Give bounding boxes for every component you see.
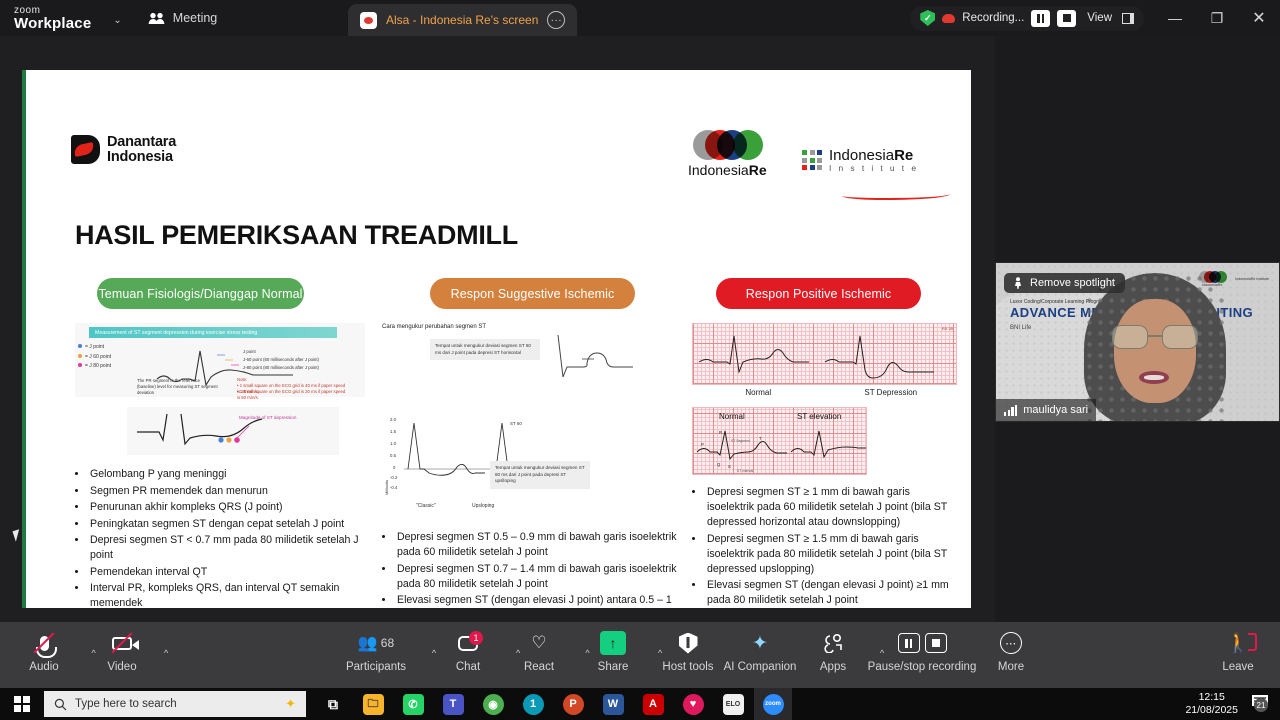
taskbar-app-elo[interactable]: ELO <box>714 688 752 720</box>
figure2-title: Cara mengukur perubahan segmen ST <box>382 323 486 332</box>
cloud-recording-icon <box>942 14 955 23</box>
ytick-6: -0.4 <box>390 485 397 491</box>
audio-label: Audio <box>29 661 58 673</box>
sparkle-icon: ✦ <box>752 630 768 656</box>
danantara-line-1: Danantara <box>107 135 176 150</box>
list-item: Gelombang P yang meninggi <box>88 467 365 482</box>
ecg-horizontal-svg <box>544 329 674 391</box>
recording-label-toolbar: Pause/stop recording <box>868 661 977 673</box>
zoom-workplace-logo: zoom Workplace <box>14 6 91 31</box>
ytick-0: 2.0 <box>390 417 396 423</box>
taskbar-app-task-view[interactable]: ⧉ <box>314 688 352 720</box>
list-item: Penurunan akhir kompleks QRS (J point) <box>88 500 365 515</box>
institute-line-1-bold: Re <box>894 147 913 164</box>
meeting-tab-label: Meeting <box>173 11 217 25</box>
figure-st-chart: Millivolts 2.0 1.5 1.0 0.5 0 -0.2 -0.4 S… <box>382 415 682 520</box>
list-item: Segmen PR memendek dan menurun <box>88 484 365 499</box>
annotation-magnitude: Magnitude of ST depression <box>239 415 296 422</box>
brand-line-1: zoom <box>14 6 91 16</box>
recording-controls-icon <box>898 630 947 656</box>
institute-grid-icon <box>802 150 822 170</box>
presentation-slide: Danantara Indonesia IndonesiaRe <box>22 70 971 608</box>
danantara-line-2: Indonesia <box>107 150 176 165</box>
recording-status-pill[interactable]: ✓ Recording... View <box>910 6 1144 31</box>
indonesiare-text: Indonesia <box>688 162 749 178</box>
clock-date: 21/08/2025 <box>1185 704 1238 717</box>
list-item: Depresi segmen ST < 0.7 mm pada 80 milid… <box>88 533 365 563</box>
ecg-strip-normal-vs-elevation: Normal ST elevation R P Q S T ST Segment… <box>692 407 867 475</box>
participants-label: Participants <box>346 661 406 673</box>
legend-j80-point: = J 80 point <box>85 363 111 369</box>
toolbar-participants-button[interactable]: 👥 68 ^ Participants <box>340 630 412 673</box>
danantara-logo-text: Danantara Indonesia <box>107 135 176 165</box>
indonesiare-rings-icon <box>693 130 761 160</box>
pill-label-normal: Temuan Fisiologis/Dianggap Normal <box>97 278 304 309</box>
chart-callout-box: Tempat untuk mengukur deviasi segmen ST … <box>490 461 590 489</box>
microphone-muted-icon: ^ <box>40 630 49 656</box>
ecg2-marker-st-segment: ST Segment <box>731 439 750 443</box>
shield-icon <box>679 630 698 656</box>
leave-label: Leave <box>1222 661 1253 673</box>
toolbar-audio-button[interactable]: ^ Audio <box>8 630 80 673</box>
annotation-j80: J-80 point (80 milliseconds after J poin… <box>243 365 319 371</box>
toolbar-react-button[interactable]: ♡ ^ React <box>503 630 575 673</box>
chevron-down-icon[interactable]: ⌄ <box>113 15 121 26</box>
more-icon: ⋯ <box>1000 630 1022 656</box>
figure-st-depression-magnitude: Magnitude of ST depression <box>127 407 339 455</box>
institute-line-2: I n s t i t u t e <box>829 164 918 173</box>
meeting-tab[interactable]: Meeting <box>148 11 217 25</box>
ytick-4: 0 <box>393 465 395 471</box>
shared-screen-area: Danantara Indonesia IndonesiaRe <box>0 36 995 622</box>
danantara-mark-icon <box>71 135 100 164</box>
annotation-pr-baseline: The PR segment is the reference (baselin… <box>137 378 219 397</box>
window-titlebar: zoom Workplace ⌄ Meeting Alsa - Indonesi… <box>0 0 1280 36</box>
column-normal: Temuan Fisiologis/Dianggap Normal Measur… <box>75 278 365 608</box>
bullet-list-normal: Gelombang P yang meninggi Segmen PR meme… <box>75 467 365 608</box>
taskbar-app-powerpoint[interactable]: P <box>554 688 592 720</box>
list-item: Depresi segmen ST 0.7 – 1.4 mm di bawah … <box>395 562 682 592</box>
host-tools-label: Host tools <box>662 661 713 673</box>
recording-label: Recording... <box>962 12 1024 24</box>
list-item: Depresi segmen ST ≥ 1 mm di bawah garis … <box>705 485 957 530</box>
remove-spotlight-label: Remove spotlight <box>1030 277 1115 289</box>
caption-normal: Normal <box>692 388 825 397</box>
ecg-strip-normal-vs-depression: RX 35 <box>692 323 957 385</box>
ecg2-marker-st-interval: ST interval <box>737 469 753 473</box>
brand-line-2: Workplace <box>14 16 91 31</box>
ecg-depression-svg <box>133 410 333 452</box>
heart-icon: ♡ ^ <box>531 630 546 656</box>
video-institute-logo-label: IndonesiaRe Institute <box>1235 277 1269 281</box>
notification-badge: 21 <box>1254 698 1268 712</box>
video-label: Video <box>107 661 136 673</box>
participants-icon <box>148 12 165 25</box>
taskbar-app-whatsapp[interactable]: ✆ <box>394 688 432 720</box>
apps-icon: ^ <box>822 630 844 656</box>
maximize-button[interactable]: ❐ <box>1196 0 1238 36</box>
column-suggestive: Respon Suggestive Ischemic Cara mengukur… <box>382 278 682 608</box>
pill-label-positive: Respon Positive Ischemic <box>716 278 921 309</box>
figure2-callout-box: Tempat untuk mengukur deviasi segmen ST … <box>430 339 540 360</box>
view-layout-icon[interactable] <box>1122 13 1134 24</box>
ecg2-marker-r: R <box>719 430 722 435</box>
chat-badge: 1 <box>469 631 483 645</box>
ecg2-label-st-elevation: ST elevation <box>797 412 841 421</box>
toolbar-ai-companion-button[interactable]: ✦ AI Companion <box>724 630 796 673</box>
apps-label: Apps <box>820 661 846 673</box>
zoom-toolbar: ^ Audio ^ Video 👥 68 ^ Participants 1 ^ <box>0 622 1280 688</box>
list-item: Interval PR, kompleks QRS, dan interval … <box>88 581 365 608</box>
participant-name: maulidya sari <box>1023 404 1088 416</box>
taskbar-app-list: ⧉ 🗀 ✆ T ◉ 1 P W A ♥ ELO zoom <box>314 688 792 720</box>
pill-label-suggestive: Respon Suggestive Ischemic <box>430 278 635 309</box>
face-shape <box>1114 299 1196 403</box>
toolbar-chat-button[interactable]: 1 ^ Chat <box>432 630 504 673</box>
chart-marker-st60: ST 60 <box>510 421 522 428</box>
legend-j60-point: = J 60 point <box>85 354 111 360</box>
apps-glyph-icon <box>822 633 844 653</box>
ytick-3: 0.5 <box>390 453 396 459</box>
list-item: Pemendekan interval QT <box>88 565 365 580</box>
ytick-1: 1.5 <box>390 429 396 435</box>
list-item: Depresi segmen ST 0.5 – 0.9 mm di bawah … <box>395 530 682 560</box>
toolbar-host-tools-button[interactable]: Host tools <box>652 630 724 673</box>
list-item: Elevasi segmen ST (dengan elevasi J poin… <box>395 593 682 608</box>
mouth-shape <box>1139 371 1169 384</box>
taskbar-app-security[interactable]: ♥ <box>674 688 712 720</box>
camera-muted-icon: ^ <box>112 630 132 656</box>
titlebar-right-controls: ✓ Recording... View — ❐ ✕ <box>910 0 1280 36</box>
institute-line-1: Indonesia <box>829 147 894 164</box>
ecg2-label-normal: Normal <box>719 412 745 421</box>
security-shield-icon: ✓ <box>920 10 935 26</box>
participant-video-tile[interactable]: Luxor Coding/Corporate Learning Program … <box>995 262 1280 422</box>
taskbar-clock[interactable]: 12:15 21/08/2025 <box>1185 688 1238 720</box>
list-item: Peningkatan segmen ST dengan cepat setel… <box>88 517 365 532</box>
tab-more-icon[interactable]: ··· <box>547 11 565 29</box>
ecg2-marker-s: S <box>728 464 731 469</box>
taskbar-app-word[interactable]: W <box>594 688 632 720</box>
shared-screen-tab-label: Alsa - Indonesia Re's screen <box>386 13 538 27</box>
glasses-icon <box>1112 325 1198 349</box>
legend-j-point: = J point <box>85 344 104 350</box>
pause-recording-button[interactable] <box>898 633 920 653</box>
ecg2-trace-svg: R P Q S T ST Segment ST interval <box>695 426 867 474</box>
ecg1-captions: Normal ST Depression <box>692 388 957 397</box>
share-label: Share <box>598 661 629 673</box>
spotlight-icon <box>1014 277 1025 289</box>
toolbar-video-button[interactable]: ^ Video <box>86 630 158 673</box>
ecg2-marker-p: P <box>701 442 704 447</box>
figure-st-measurement: Measurement of ST segment depression dur… <box>75 323 365 397</box>
remove-spotlight-button[interactable]: Remove spotlight <box>1004 273 1125 293</box>
list-item: Depresi segmen ST ≥ 1.5 mm di bawah gari… <box>705 532 957 577</box>
bullet-list-suggestive: Depresi segmen ST 0.5 – 0.9 mm di bawah … <box>382 530 682 608</box>
notification-center-icon[interactable]: 21 <box>1251 693 1272 714</box>
ai-companion-label: AI Companion <box>724 661 797 673</box>
chart-xlabel-upsloping: Upsloping <box>472 503 494 510</box>
taskbar-app-edge[interactable]: 1 <box>514 688 552 720</box>
taskbar-app-zoom[interactable]: zoom <box>754 688 792 720</box>
institute-logo-text: IndonesiaRe I n s t i t u t e <box>829 148 918 173</box>
caption-st-depression: ST Depression <box>825 388 958 397</box>
participants-icon: 👥 68 ^ <box>358 630 394 656</box>
chart-ylabel: Millivolts <box>384 435 390 495</box>
figure-title-banner: Measurement of ST segment depression dur… <box>89 327 337 338</box>
institute-swoosh-icon <box>842 190 950 200</box>
indonesiare-logo-text: IndonesiaRe <box>688 162 767 178</box>
column-positive: Respon Positive Ischemic RX 35 Normal ST… <box>692 278 957 608</box>
ytick-5: -0.2 <box>390 475 397 481</box>
taskbar-search-input[interactable]: Type here to search ✦ <box>44 691 306 717</box>
view-label[interactable]: View <box>1087 12 1112 24</box>
ytick-2: 1.0 <box>390 441 396 447</box>
chart-callout-text: Tempat untuk mengukur deviasi segmen ST … <box>495 465 585 485</box>
close-button[interactable]: ✕ <box>1238 0 1280 36</box>
annotation-j60: J-60 point (60 milliseconds after J poin… <box>243 357 319 363</box>
participant-name-tag: maulidya sari <box>996 399 1096 421</box>
windows-taskbar: Type here to search ✦ ⧉ 🗀 ✆ T ◉ 1 P W A … <box>0 688 1280 720</box>
minimize-button[interactable]: — <box>1154 0 1196 36</box>
taskbar-app-teams[interactable]: T <box>434 688 472 720</box>
figure-st-measure-method: Cara mengukur perubahan segmen ST Tempat… <box>382 323 682 413</box>
stop-recording-icon[interactable] <box>1057 10 1076 27</box>
copilot-sparkle-icon[interactable]: ✦ <box>285 696 296 712</box>
chat-label: Chat <box>456 661 480 673</box>
search-placeholder: Type here to search <box>75 698 177 710</box>
toolbar-share-button[interactable]: ↑ ^ Share <box>577 630 649 673</box>
figure-legend: = J point = J 60 point = J 80 point <box>78 343 111 372</box>
chat-icon: 1 ^ <box>458 630 478 656</box>
toolbar-leave-button[interactable]: 🚶 Leave <box>1202 630 1274 673</box>
taskbar-app-chrome[interactable]: ◉ <box>474 688 512 720</box>
taskbar-app-acrobat[interactable]: A <box>634 688 672 720</box>
leave-icon: 🚶 <box>1226 630 1250 656</box>
shared-app-icon <box>360 12 377 29</box>
taskbar-app-file-explorer[interactable]: 🗀 <box>354 688 392 720</box>
share-screen-icon: ↑ ^ <box>600 630 626 656</box>
participant-avatar <box>1084 273 1224 422</box>
ecg2-marker-t: T <box>759 436 762 441</box>
clock-time: 12:15 <box>1199 691 1225 704</box>
ecg1-trace-svg <box>697 324 947 382</box>
audio-level-icon <box>1004 405 1017 416</box>
ecg2-marker-q: Q <box>717 462 721 467</box>
shared-screen-tab[interactable]: Alsa - Indonesia Re's screen ··· <box>348 4 577 36</box>
react-label: React <box>524 661 554 673</box>
indonesiare-text-bold: Re <box>749 162 767 178</box>
bullet-list-positive: Depresi segmen ST ≥ 1 mm di bawah garis … <box>692 485 957 608</box>
figure2-callout-text: Tempat untuk mengukur deviasi segmen ST … <box>435 343 535 356</box>
page-title: HASIL PEMERIKSAAN TREADMILL <box>75 220 518 251</box>
search-icon <box>54 698 67 711</box>
annotation-note-2: • 1 small square on the ECG grid is 20 m… <box>237 389 347 401</box>
toolbar-more-button[interactable]: ⋯ More <box>975 630 1047 673</box>
participants-count: 68 <box>381 636 394 650</box>
more-label: More <box>998 661 1024 673</box>
list-item: Elevasi segmen ST (dengan elevasi J poin… <box>705 578 957 608</box>
toolbar-recording-controls[interactable]: Pause/stop recording <box>852 630 992 673</box>
pause-recording-icon[interactable] <box>1031 10 1050 27</box>
chart-xlabel-classic: "Classic" <box>416 503 436 510</box>
zoom-meeting-window: zoom Workplace ⌄ Meeting Alsa - Indonesi… <box>0 0 1280 720</box>
annotation-j-point: J point <box>243 349 256 355</box>
slide-accent-bar <box>22 70 26 608</box>
indonesiare-institute-logo: IndonesiaRe I n s t i t u t e <box>802 148 918 173</box>
stop-recording-button[interactable] <box>925 633 947 653</box>
indonesiare-logo: IndonesiaRe <box>688 130 767 178</box>
danantara-logo: Danantara Indonesia <box>71 135 176 165</box>
windows-start-button[interactable] <box>0 696 44 712</box>
